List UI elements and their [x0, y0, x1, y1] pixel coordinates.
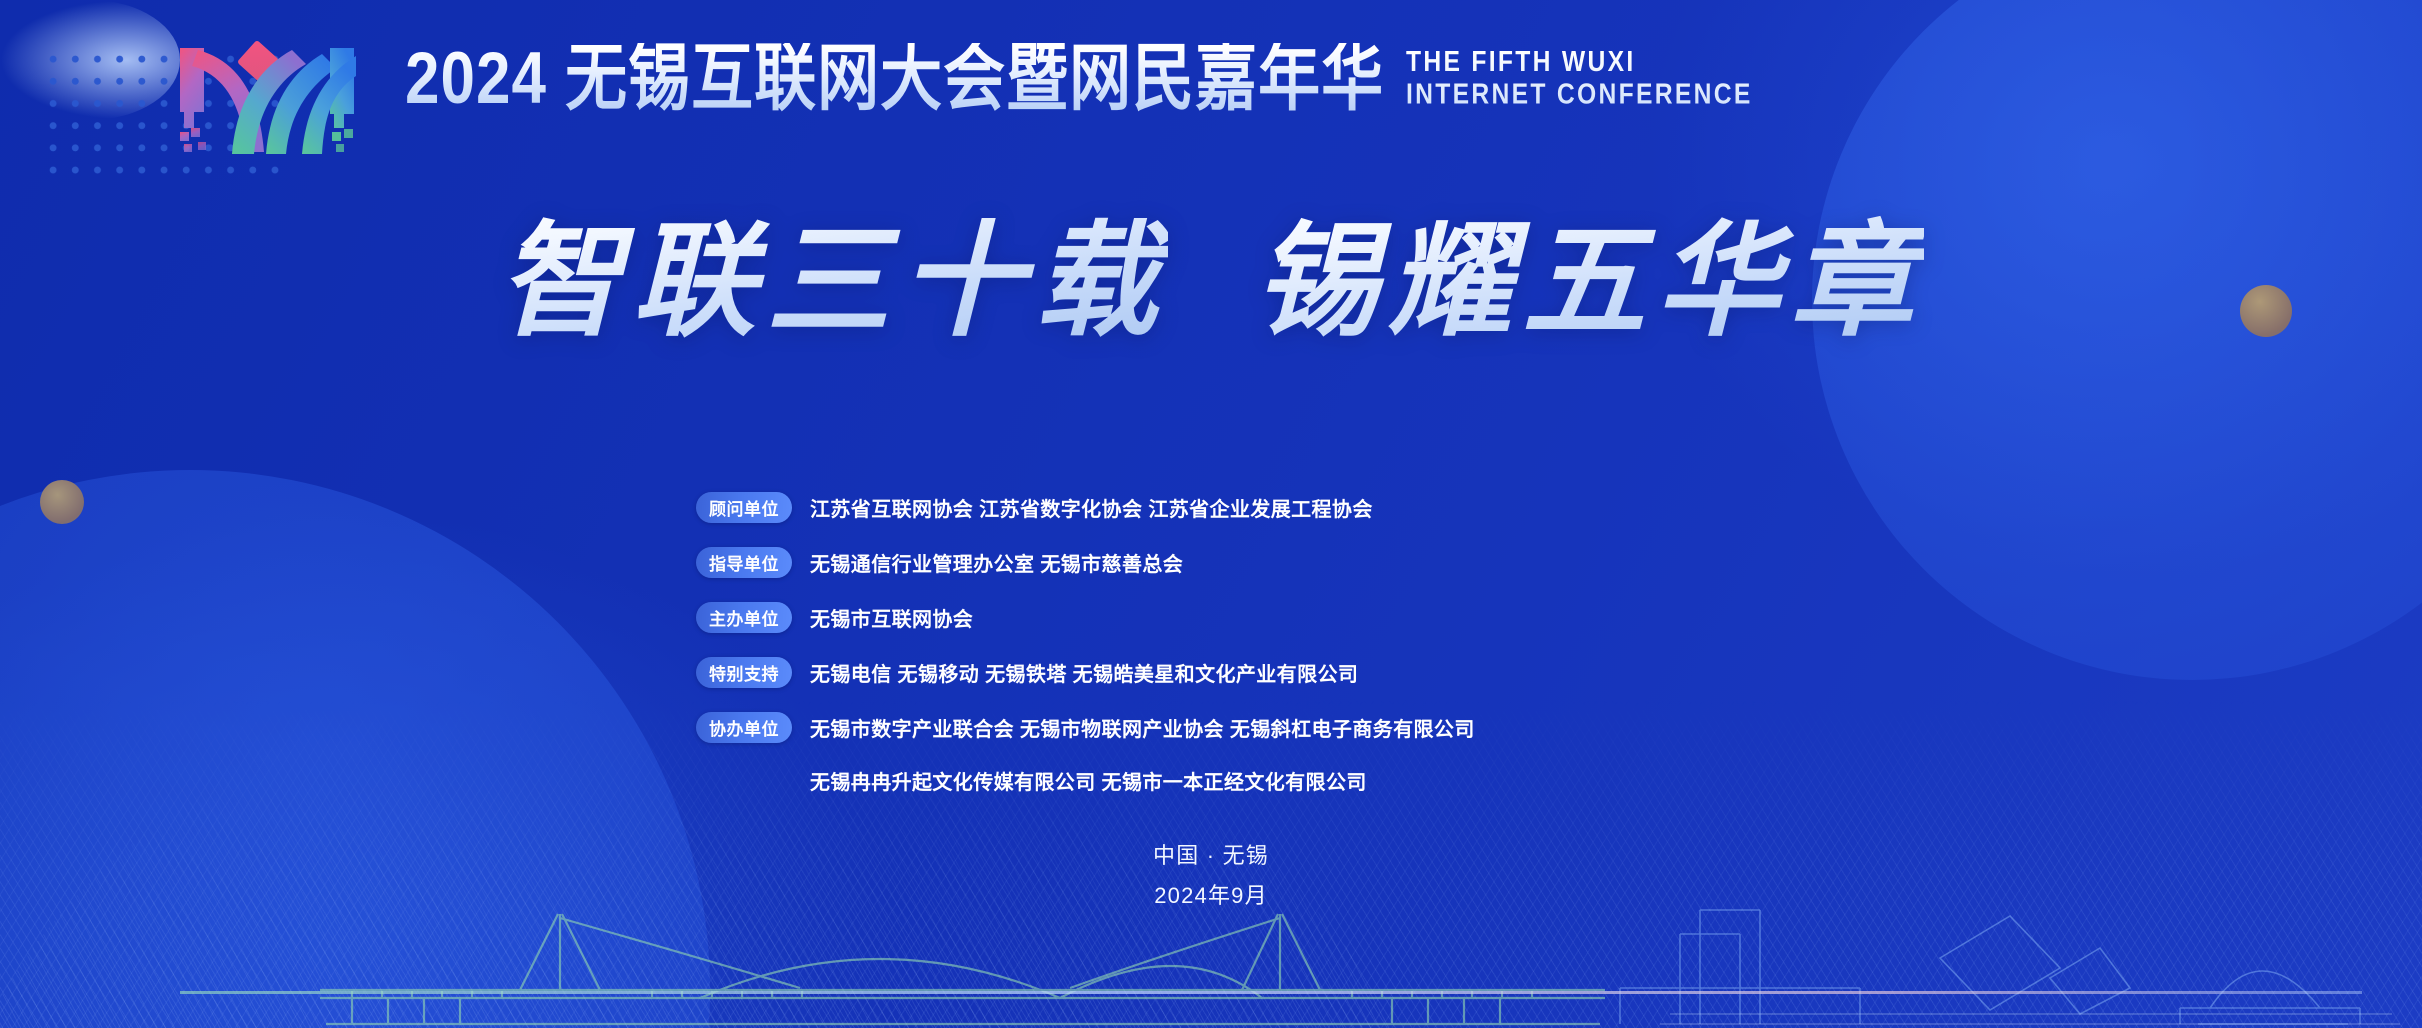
status-badge: 主办单位 [696, 602, 792, 633]
partner-row: 协办单位 无锡市数字产业联合会 无锡市物联网产业协会 无锡斜杠电子商务有限公司 [696, 700, 1726, 755]
taihu-bridge-outline [320, 914, 1605, 1024]
page-title: 2024 无锡互联网大会暨网民嘉年华 [405, 43, 1384, 116]
partner-names: 无锡市互联网协会 [810, 603, 973, 632]
partner-names: 无锡市数字产业联合会 无锡市物联网产业协会 无锡斜杠电子商务有限公司 [810, 713, 1475, 742]
event-date: 2024年9月 [1154, 878, 1268, 910]
status-badge: 顾问单位 [696, 492, 792, 523]
partner-names-continuation: 无锡冉冉升起文化传媒有限公司 无锡市一本正经文化有限公司 [696, 755, 1726, 805]
title-row: 2024 无锡互联网大会暨网民嘉年华 THE FIFTH WUXI INTERN… [405, 52, 1771, 116]
slogan-phrase-2: 锡耀五华章 [1254, 180, 1924, 360]
slogan-phrase-1: 智联三十载 [498, 180, 1168, 360]
english-title-line-2: INTERNET CONFERENCE [1406, 78, 1753, 111]
status-badge: 指导单位 [696, 547, 792, 578]
status-badge: 特别支持 [696, 657, 792, 688]
partner-names: 无锡电信 无锡移动 无锡铁塔 无锡皓美星和文化产业有限公司 [810, 658, 1358, 687]
slogan: 智联三十载 锡耀五华章 [0, 180, 2422, 360]
partner-names: 无锡通信行业管理办公室 无锡市慈善总会 [810, 548, 1183, 577]
english-title-line-1: THE FIFTH WUXI [1406, 45, 1753, 78]
english-title: THE FIFTH WUXI INTERNET CONFERENCE [1406, 45, 1753, 110]
footer: 中国 · 无锡 2024年9月 [0, 838, 2422, 910]
partner-row: 顾问单位 江苏省互联网协会 江苏省数字化协会 江苏省企业发展工程协会 [696, 480, 1726, 535]
partner-row: 特别支持 无锡电信 无锡移动 无锡铁塔 无锡皓美星和文化产业有限公司 [696, 645, 1726, 700]
partner-row: 主办单位 无锡市互联网协会 [696, 590, 1726, 645]
wuxi-internet-conference-logo-mark [180, 32, 365, 157]
partner-list: 顾问单位 江苏省互联网协会 江苏省数字化协会 江苏省企业发展工程协会 指导单位 … [0, 480, 2422, 805]
ground-line [180, 991, 2362, 994]
partner-row: 指导单位 无锡通信行业管理办公室 无锡市慈善总会 [696, 535, 1726, 590]
conference-poster: 2024 无锡互联网大会暨网民嘉年华 THE FIFTH WUXI INTERN… [0, 0, 2422, 1028]
event-location: 中国 · 无锡 [1153, 838, 1269, 870]
status-badge: 协办单位 [696, 712, 792, 743]
partner-names: 江苏省互联网协会 江苏省数字化协会 江苏省企业发展工程协会 [810, 493, 1373, 522]
